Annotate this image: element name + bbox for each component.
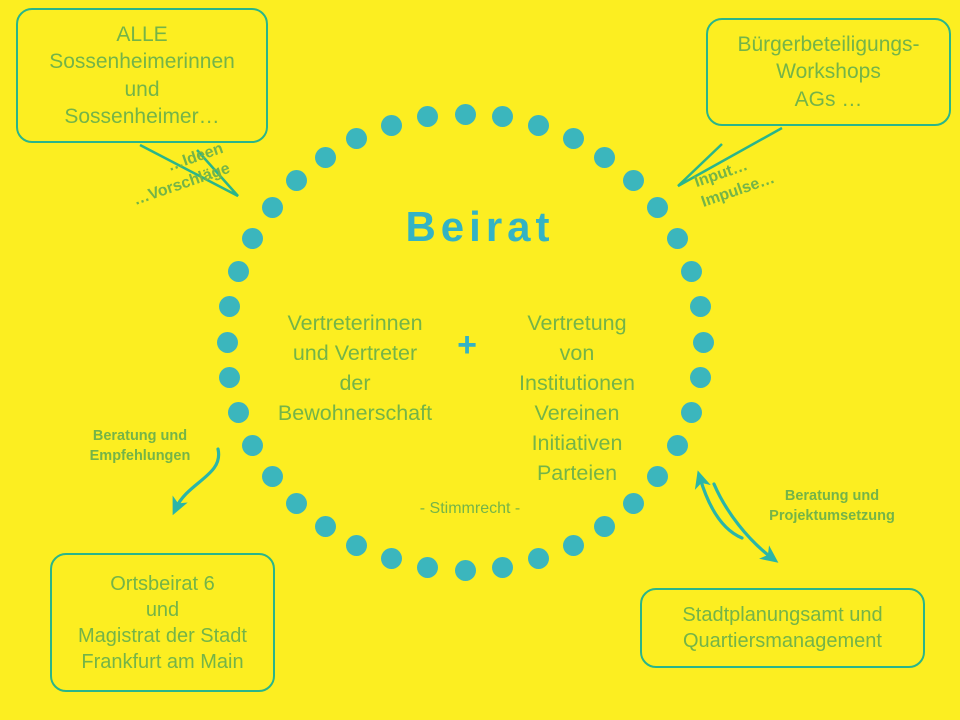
ring-dot [455, 560, 476, 581]
ring-dot [623, 493, 644, 514]
ring-dot [594, 516, 615, 537]
bubble-right-line-1: Bürgerbeteiligungs- [737, 31, 919, 58]
center-right-line-1: Vertretung [487, 308, 667, 338]
ring-dot [286, 170, 307, 191]
ring-dot [693, 332, 714, 353]
center-left-line-4: Bewohnerschaft [265, 398, 445, 428]
ring-dot [315, 516, 336, 537]
ring-dot [381, 115, 402, 136]
center-right-line-6: Parteien [487, 458, 667, 488]
label-beratung-empf-line-1: Beratung und [70, 427, 210, 447]
label-beratung-empf-line-2: Empfehlungen [70, 447, 210, 467]
label-beratung-proj-line-1: Beratung und [742, 487, 922, 507]
ring-dot [219, 367, 240, 388]
ring-dot [681, 402, 702, 423]
label-beratung-projektumsetzung: Beratung und Projektumsetzung [742, 487, 922, 526]
ring-dot [563, 535, 584, 556]
box-stadtplanungsamt[interactable]: Stadtplanungsamt und Quartiersmanagement [640, 588, 925, 668]
ring-dot [315, 147, 336, 168]
ring-dot [228, 261, 249, 282]
box-ortsbeirat-line-1: Ortsbeirat 6 [110, 571, 214, 597]
bubble-buergerbeteiligung[interactable]: Bürgerbeteiligungs- Workshops AGs … [706, 18, 951, 126]
center-right-line-5: Initiativen [487, 428, 667, 458]
center-left-line-3: der [265, 368, 445, 398]
ring-dot [381, 548, 402, 569]
diagram-canvas: ALLE Sossenheimerinnen und Sossenheimer…… [0, 0, 960, 720]
ring-dot [667, 435, 688, 456]
ring-dot [492, 106, 513, 127]
center-right-line-4: Vereinen [487, 398, 667, 428]
center-column-right: Vertretung von Institutionen Vereinen In… [487, 308, 667, 489]
box-ortsbeirat-line-4: Frankfurt am Main [81, 649, 243, 675]
box-ortsbeirat-line-3: Magistrat der Stadt [78, 623, 247, 649]
bubble-left-line-4: Sossenheimer… [64, 103, 219, 130]
ring-dot [455, 104, 476, 125]
box-stadtplan-line-2: Quartiersmanagement [683, 628, 882, 654]
ring-dot [228, 402, 249, 423]
center-left-line-1: Vertreterinnen [265, 308, 445, 338]
bubble-right-line-3: AGs … [795, 86, 863, 113]
box-ortsbeirat-magistrat[interactable]: Ortsbeirat 6 und Magistrat der Stadt Fra… [50, 553, 275, 692]
ring-dot [528, 548, 549, 569]
page-title: Beirat [0, 203, 960, 251]
footnote-stimmrecht: - Stimmrecht - [340, 500, 600, 518]
ring-dot [690, 367, 711, 388]
bubble-alle-sossenheimer[interactable]: ALLE Sossenheimerinnen und Sossenheimer… [16, 8, 268, 143]
plus-icon: + [446, 328, 488, 362]
center-left-line-2: und Vertreter [265, 338, 445, 368]
ring-dot [346, 128, 367, 149]
center-right-line-3: Institutionen [487, 368, 667, 398]
box-stadtplan-line-1: Stadtplanungsamt und [682, 602, 882, 628]
bubble-right-line-2: Workshops [776, 58, 881, 85]
ring-dot [417, 106, 438, 127]
ring-dot [563, 128, 584, 149]
ring-dot [217, 332, 238, 353]
center-column-left: Vertreterinnen und Vertreter der Bewohne… [265, 308, 445, 428]
ring-dot [528, 115, 549, 136]
bubble-left-line-2: Sossenheimerinnen [49, 48, 235, 75]
ring-dot [594, 147, 615, 168]
ring-dot [262, 466, 283, 487]
ring-dot [492, 557, 513, 578]
ring-dot [690, 296, 711, 317]
bubble-left-line-3: und [124, 76, 159, 103]
bubble-left-line-1: ALLE [116, 21, 167, 48]
ring-dot [623, 170, 644, 191]
box-ortsbeirat-line-2: und [146, 597, 179, 623]
ring-dot [417, 557, 438, 578]
ring-dot [286, 493, 307, 514]
center-right-line-2: von [487, 338, 667, 368]
ring-dot [242, 435, 263, 456]
label-beratung-empfehlungen: Beratung und Empfehlungen [70, 427, 210, 466]
label-beratung-proj-line-2: Projektumsetzung [742, 507, 922, 527]
ring-dot [681, 261, 702, 282]
ring-dot [219, 296, 240, 317]
ring-dot [346, 535, 367, 556]
